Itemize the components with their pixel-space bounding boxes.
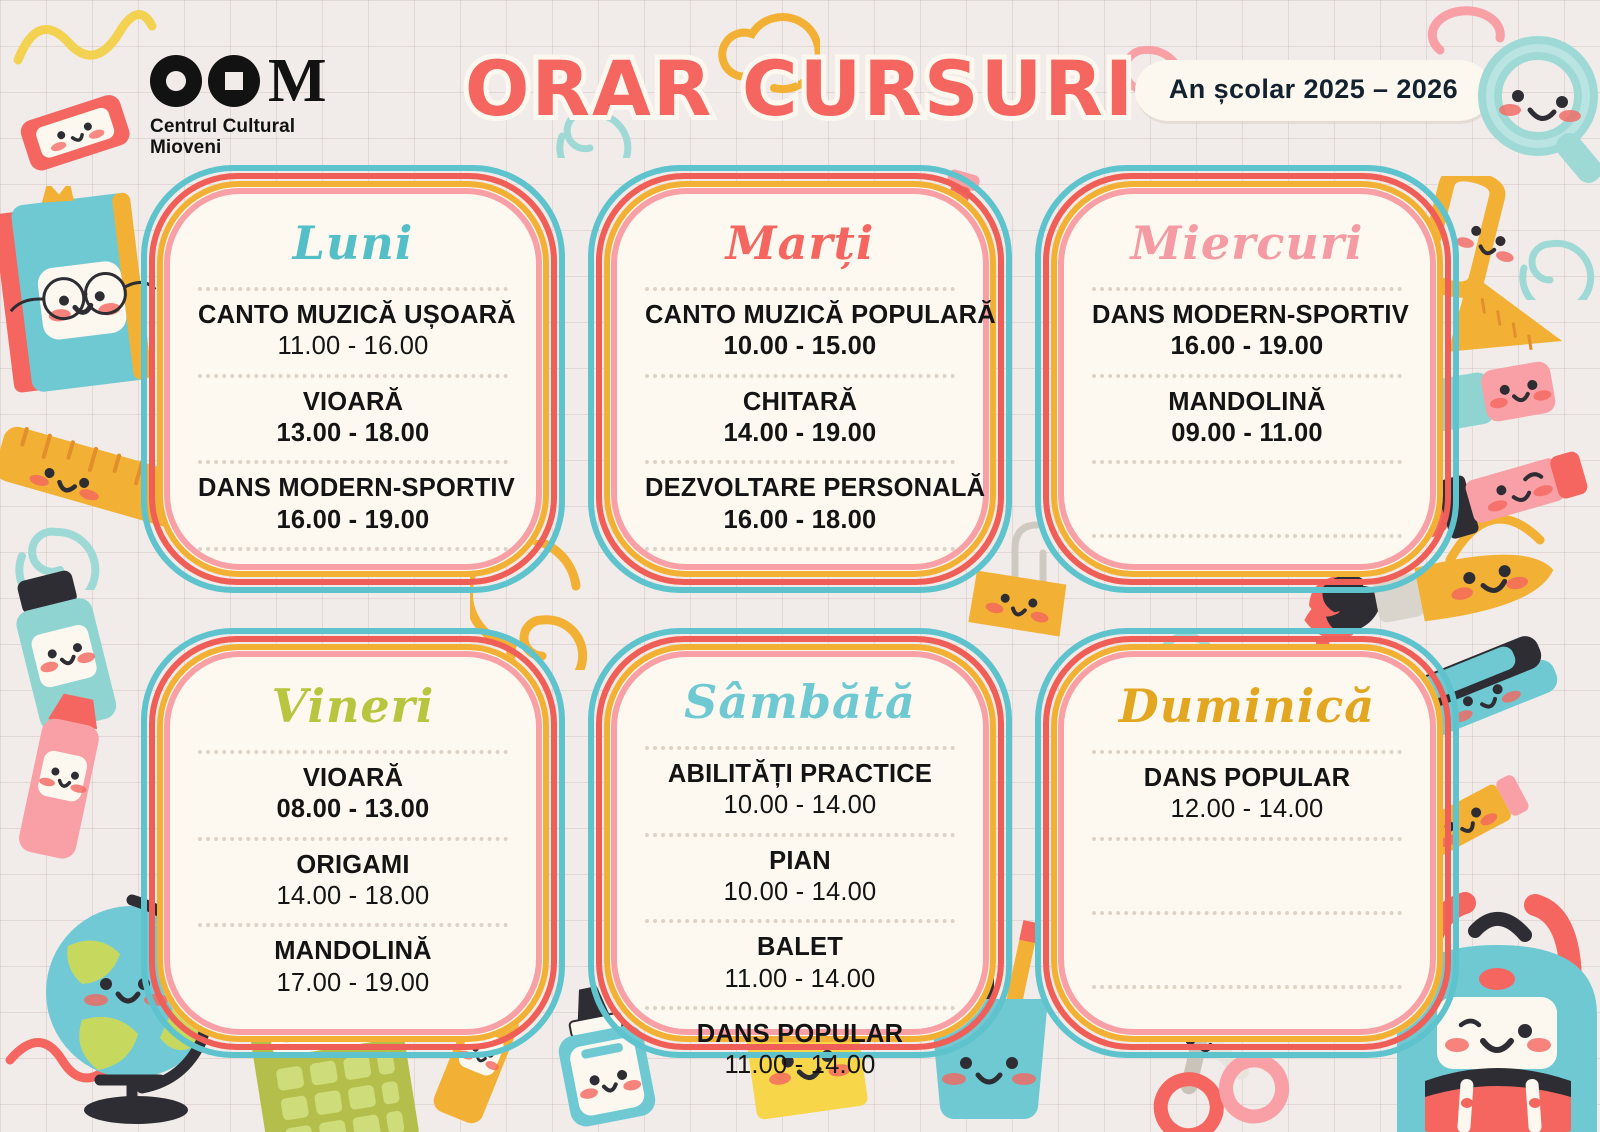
day-card-sambata[interactable]: Sâmbătă ABILITĂȚI PRACTICE 10.00 - 14.00… (605, 645, 995, 1041)
day-card-duminica[interactable]: Duminică DANS POPULAR 12.00 - 14.00 (1052, 645, 1442, 1041)
empty-row (1092, 471, 1402, 527)
dotted-separator (198, 547, 508, 551)
empty-row (1092, 848, 1402, 904)
course-row: VIOARĂ 08.00 - 13.00 (198, 761, 508, 830)
course-row: DANS POPULAR 11.00 - 14.00 (645, 1017, 955, 1086)
day-title: Luni (293, 216, 414, 270)
dotted-separator (645, 919, 955, 923)
course-row: ABILITĂȚI PRACTICE 10.00 - 14.00 (645, 757, 955, 826)
course-name: MANDOLINĂ (1092, 387, 1402, 418)
course-time: 11.00 - 16.00 (198, 331, 508, 363)
course-row: CANTO MUZICĂ UȘOARĂ 11.00 - 16.00 (198, 298, 508, 367)
dotted-separator (198, 287, 508, 291)
dotted-separator (1092, 911, 1402, 915)
day-title: Vineri (272, 679, 435, 733)
course-time: 09.00 - 11.00 (1092, 418, 1402, 450)
course-time: 16.00 - 19.00 (1092, 331, 1402, 363)
course-name: ORIGAMI (198, 850, 508, 881)
dotted-separator (198, 750, 508, 754)
day-card-miercuri[interactable]: Miercuri DANS MODERN-SPORTIV 16.00 - 19.… (1052, 182, 1442, 576)
course-row: DANS POPULAR 12.00 - 14.00 (1092, 761, 1402, 830)
day-entries: DANS POPULAR 12.00 - 14.00 (1092, 743, 1402, 996)
dotted-separator (1092, 374, 1402, 378)
dotted-separator (1092, 837, 1402, 841)
course-name: CANTO MUZICĂ POPULARĂ (645, 300, 955, 331)
course-row: CHITARĂ 14.00 - 19.00 (645, 385, 955, 454)
course-name: DANS MODERN-SPORTIV (198, 473, 508, 504)
course-name: DANS MODERN-SPORTIV (1092, 300, 1402, 331)
dotted-separator (1092, 287, 1402, 291)
dotted-separator (645, 547, 955, 551)
spiral-scribble (1430, 470, 1560, 580)
school-year-badge: An școlar 2025 – 2026 (1135, 60, 1492, 121)
course-time: 11.00 - 14.00 (645, 964, 955, 996)
course-name: CHITARĂ (645, 387, 955, 418)
course-name: BALET (645, 932, 955, 963)
course-time: 14.00 - 19.00 (645, 418, 955, 450)
dotted-separator (645, 287, 955, 291)
course-time: 16.00 - 19.00 (198, 505, 508, 537)
dotted-separator (198, 460, 508, 464)
course-time: 10.00 - 14.00 (645, 877, 955, 909)
course-time: 12.00 - 14.00 (1092, 794, 1402, 826)
course-name: PIAN (645, 846, 955, 877)
course-name: VIOARĂ (198, 387, 508, 418)
day-title: Duminică (1119, 679, 1375, 733)
course-time: 11.00 - 14.00 (645, 1050, 955, 1082)
course-name: DANS POPULAR (645, 1019, 955, 1050)
dotted-separator (1092, 750, 1402, 754)
dotted-separator (1092, 460, 1402, 464)
day-card-vineri[interactable]: Vineri VIOARĂ 08.00 - 13.00 ORIGAMI 14.0… (158, 645, 548, 1041)
course-name: CANTO MUZICĂ UȘOARĂ (198, 300, 508, 331)
course-row: MANDOLINĂ 17.00 - 19.00 (198, 934, 508, 1003)
course-row: CANTO MUZICĂ POPULARĂ 10.00 - 15.00 (645, 298, 955, 367)
course-name: VIOARĂ (198, 763, 508, 794)
course-row: BALET 11.00 - 14.00 (645, 930, 955, 999)
course-row: ORIGAMI 14.00 - 18.00 (198, 848, 508, 917)
day-title: Marți (726, 216, 875, 270)
spiral-scribble (1500, 160, 1600, 300)
course-time: 10.00 - 15.00 (645, 331, 955, 363)
book-with-glasses-icon (0, 186, 175, 396)
dotted-separator (1092, 985, 1402, 989)
course-time: 08.00 - 13.00 (198, 794, 508, 826)
dotted-separator (645, 833, 955, 837)
dotted-separator (645, 1006, 955, 1010)
day-entries: CANTO MUZICĂ UȘOARĂ 11.00 - 16.00 VIOARĂ… (198, 280, 508, 558)
course-name: DEZVOLTARE PERSONALĂ (645, 473, 955, 504)
day-title: Sâmbătă (684, 675, 916, 729)
course-time: 17.00 - 19.00 (198, 968, 508, 1000)
spiral-scribble (0, 1020, 130, 1132)
day-entries: DANS MODERN-SPORTIV 16.00 - 19.00 MANDOL… (1092, 280, 1402, 545)
dotted-separator (645, 460, 955, 464)
course-time: 10.00 - 14.00 (645, 790, 955, 822)
course-row: DANS MODERN-SPORTIV 16.00 - 19.00 (198, 471, 508, 540)
course-time: 16.00 - 18.00 (645, 505, 955, 537)
spiral-scribble (0, 460, 110, 590)
dotted-separator (198, 837, 508, 841)
day-entries: ABILITĂȚI PRACTICE 10.00 - 14.00 PIAN 10… (645, 739, 955, 1086)
day-card-marti[interactable]: Marți CANTO MUZICĂ POPULARĂ 10.00 - 15.0… (605, 182, 995, 576)
dotted-separator (198, 374, 508, 378)
course-row: MANDOLINĂ 09.00 - 11.00 (1092, 385, 1402, 454)
course-row: PIAN 10.00 - 14.00 (645, 844, 955, 913)
dotted-separator (645, 374, 955, 378)
day-entries: VIOARĂ 08.00 - 13.00 ORIGAMI 14.00 - 18.… (198, 743, 508, 1003)
dotted-separator (198, 923, 508, 927)
course-time: 13.00 - 18.00 (198, 418, 508, 450)
course-row: VIOARĂ 13.00 - 18.00 (198, 385, 508, 454)
day-title: Miercuri (1130, 216, 1363, 270)
course-row: DANS MODERN-SPORTIV 16.00 - 19.00 (1092, 298, 1402, 367)
course-name: MANDOLINĂ (198, 936, 508, 967)
empty-row (1092, 922, 1402, 978)
course-row: DEZVOLTARE PERSONALĂ 16.00 - 18.00 (645, 471, 955, 540)
brand-name-line2: Mioveni (150, 137, 450, 158)
course-time: 14.00 - 18.00 (198, 881, 508, 913)
dotted-separator (1092, 534, 1402, 538)
day-card-luni[interactable]: Luni CANTO MUZICĂ UȘOARĂ 11.00 - 16.00 V… (158, 182, 548, 576)
crayon-icon (0, 690, 150, 890)
highlighter-icon (0, 560, 156, 740)
dotted-separator (645, 746, 955, 750)
course-name: ABILITĂȚI PRACTICE (645, 759, 955, 790)
day-entries: CANTO MUZICĂ POPULARĂ 10.00 - 15.00 CHIT… (645, 280, 955, 558)
course-name: DANS POPULAR (1092, 763, 1402, 794)
schedule-poster: M Centrul Cultural Mioveni ORAR CURSURI … (0, 0, 1600, 1132)
